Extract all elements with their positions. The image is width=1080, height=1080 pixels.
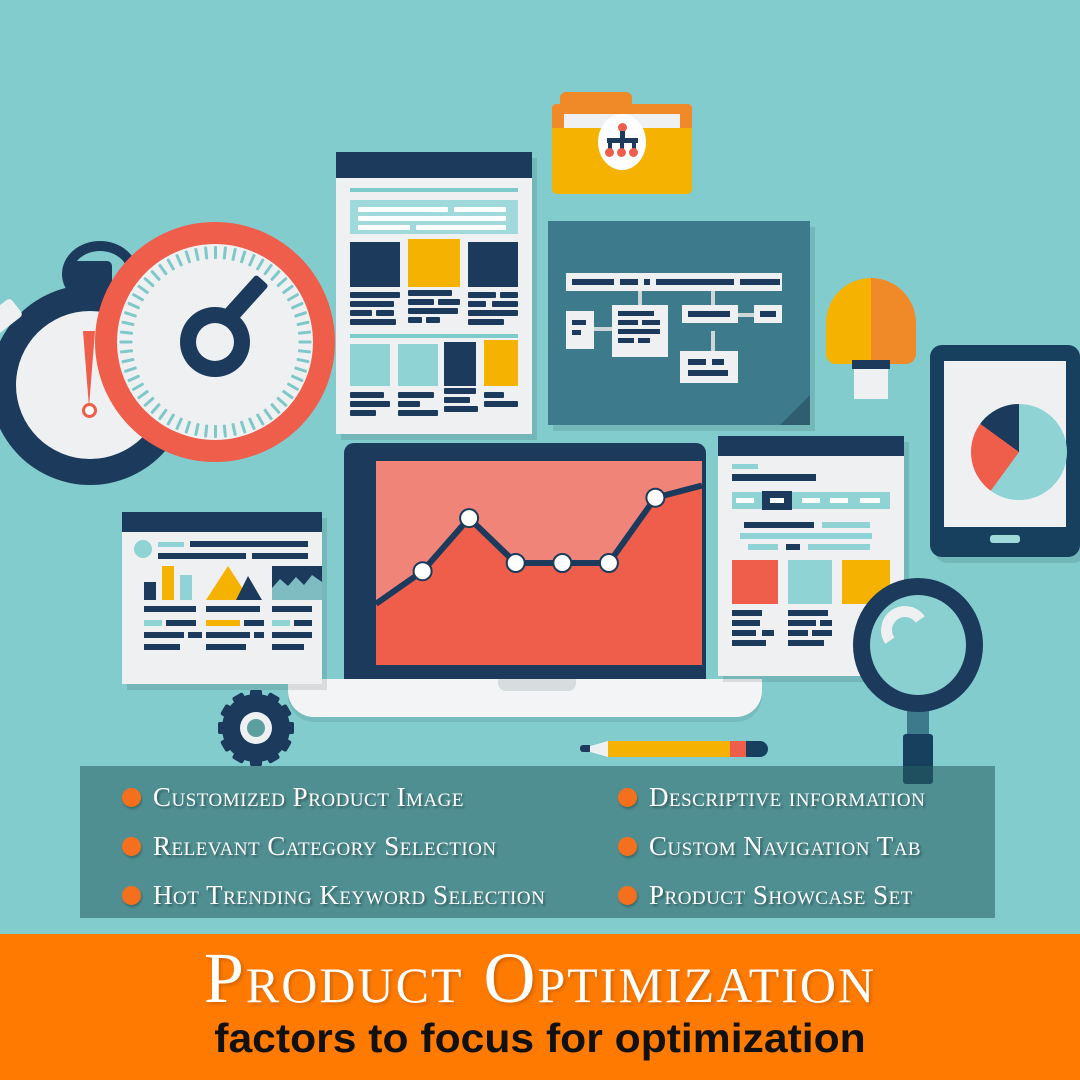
bullet-dot-icon — [618, 886, 637, 905]
dashboard-report-icon — [122, 512, 322, 684]
lightbulb-base — [854, 369, 888, 399]
tablet-icon — [930, 345, 1080, 557]
list-item[interactable]: Hot Trending Keyword Selection — [122, 878, 545, 912]
sitemap-icon — [548, 221, 810, 425]
sitemap-node-far-right — [754, 305, 782, 323]
tablet-home-button[interactable] — [990, 535, 1020, 543]
document-rule — [350, 188, 518, 192]
clock-hub-center — [196, 323, 234, 361]
lightbulb-glass-right — [871, 278, 916, 364]
pencil-ferrule — [730, 741, 746, 757]
report-header-bar — [122, 512, 322, 532]
magnifier-icon — [845, 578, 995, 778]
infographic-canvas: Customized Product Image Relevant Catego… — [0, 0, 1080, 1080]
bullet-dot-icon — [122, 837, 141, 856]
report-mountain-chart — [206, 566, 264, 600]
sitemap-corner-fold — [780, 395, 810, 425]
tablet-screen — [944, 361, 1066, 527]
pencil-icon — [580, 738, 770, 760]
document-thumb-4 — [350, 344, 390, 386]
clock-icon — [95, 222, 335, 462]
webpage-thumb-2 — [788, 560, 832, 604]
sitemap-node-right — [682, 305, 738, 323]
list-item-label: Customized Product Image — [153, 782, 464, 813]
factors-panel: Customized Product Image Relevant Catego… — [80, 766, 995, 918]
list-item[interactable]: Custom Navigation Tab — [618, 829, 925, 863]
laptop-trackpad-notch — [498, 679, 576, 691]
laptop-lid — [344, 443, 706, 683]
sitemap-node-left — [566, 311, 594, 349]
report-bar-chart — [144, 566, 196, 600]
list-item-label: Custom Navigation Tab — [649, 831, 921, 862]
page-subtitle: factors to focus for optimization — [0, 1018, 1080, 1059]
document-header-bar — [336, 152, 532, 178]
bullet-dot-icon — [618, 837, 637, 856]
webpage-thumb-1 — [732, 560, 778, 604]
list-item-label: Product Showcase Set — [649, 880, 913, 911]
document-thumb-6 — [444, 342, 476, 386]
list-item[interactable]: Customized Product Image — [122, 780, 545, 814]
bullet-dot-icon — [122, 886, 141, 905]
report-trend-chart — [272, 566, 322, 600]
sitemap-node-main — [612, 305, 668, 357]
webpage-nav-bar — [732, 492, 890, 509]
document-layout-icon — [336, 152, 532, 434]
sitemap-node-bottom — [680, 351, 738, 383]
gear-hole-center — [247, 719, 265, 737]
stopwatch-pin-center — [85, 406, 94, 415]
pencil-eraser — [746, 741, 768, 757]
list-item[interactable]: Product Showcase Set — [618, 878, 925, 912]
webpage-header-bar — [718, 436, 904, 456]
laptop-icon — [330, 443, 720, 713]
report-avatar — [134, 540, 152, 558]
pencil-lead — [580, 745, 590, 752]
laptop-line-area-chart — [376, 461, 702, 665]
document-thumb-2 — [408, 239, 460, 287]
title-bar: Product Optimization factors to focus fo… — [0, 934, 1080, 1080]
list-item-label: Descriptive information — [649, 782, 925, 813]
document-intro-block — [350, 200, 518, 234]
bullet-dot-icon — [122, 788, 141, 807]
bullet-dot-icon — [618, 788, 637, 807]
page-title: Product Optimization — [0, 942, 1080, 1014]
folder-hierarchy-icon — [552, 92, 692, 202]
lightbulb-glass-left — [826, 278, 871, 364]
list-item-label: Relevant Category Selection — [153, 831, 497, 862]
pencil-body — [608, 741, 736, 757]
gear-icon — [218, 690, 294, 766]
folder-badge — [598, 114, 646, 170]
list-item[interactable]: Relevant Category Selection — [122, 829, 545, 863]
document-thumb-3 — [468, 242, 518, 287]
document-thumb-5 — [398, 344, 438, 386]
tablet-pie-chart — [971, 404, 1067, 500]
stopwatch-needle — [83, 331, 95, 407]
factors-left-column: Customized Product Image Relevant Catego… — [122, 780, 545, 927]
sitemap-root-node — [566, 273, 782, 291]
factors-right-column: Descriptive information Custom Navigatio… — [618, 780, 925, 927]
document-thumb-1 — [350, 242, 400, 287]
list-item[interactable]: Descriptive information — [618, 780, 925, 814]
lightbulb-neck — [852, 360, 890, 369]
list-item-label: Hot Trending Keyword Selection — [153, 880, 545, 911]
lightbulb-icon — [826, 278, 916, 398]
laptop-screen — [376, 461, 702, 665]
